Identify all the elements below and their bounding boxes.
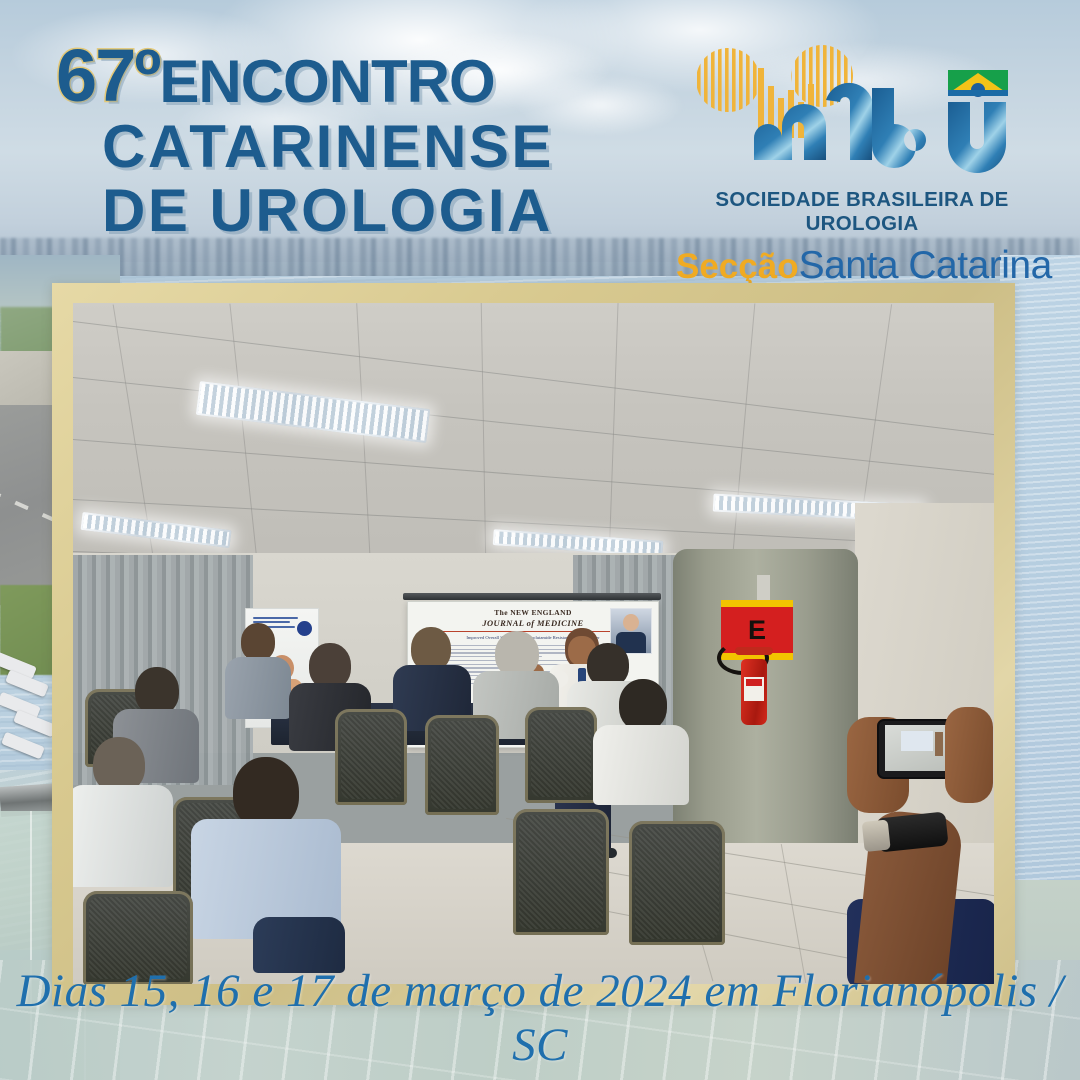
audience-member	[593, 679, 689, 805]
audience-member	[223, 623, 293, 719]
wristwatch	[875, 811, 948, 852]
section-line: SecçãoSanta Catarina	[676, 244, 1048, 288]
sbu-logo-icon	[676, 40, 1048, 186]
banner-logo-badge	[297, 621, 312, 636]
headline-line-2: CATARINENSE	[56, 118, 656, 176]
event-headline: 67º ENCONTRO CATARINENSE DE UROLOGIA	[56, 42, 656, 239]
event-photo: The NEW ENGLAND JOURNAL of MEDICINE Impr…	[73, 303, 994, 984]
audience-torso	[593, 725, 689, 805]
journal-prefix: The NEW ENGLAND	[494, 608, 572, 617]
chair	[335, 709, 407, 805]
projector-screen-housing	[403, 593, 661, 600]
section-label: Secção	[676, 247, 799, 286]
event-poster: 67º ENCONTRO CATARINENSE DE UROLOGIA	[0, 0, 1080, 1080]
event-dateline: Dias 15, 16 e 17 de março de 2024 em Flo…	[0, 964, 1080, 1072]
society-name: SOCIEDADE BRASILEIRA DE UROLOGIA	[676, 188, 1048, 236]
chair	[525, 707, 597, 803]
audience-member	[191, 757, 341, 971]
extinguisher-nozzle	[735, 647, 773, 655]
extinguisher-sign-letter: E	[748, 617, 766, 644]
extinguisher-mount	[757, 575, 770, 601]
audience	[73, 701, 793, 984]
section-name: Santa Catarina	[799, 244, 1052, 287]
chair	[629, 821, 725, 945]
audience-head	[241, 623, 275, 661]
photo-frame: The NEW ENGLAND JOURNAL of MEDICINE Impr…	[52, 283, 1015, 1005]
audience-torso	[73, 785, 173, 887]
right-hand	[945, 707, 993, 803]
sbu-logo-block: SOCIEDADE BRASILEIRA DE UROLOGIA SecçãoS…	[676, 40, 1048, 288]
headline-line-3: DE UROLOGIA	[56, 182, 656, 240]
audience-torso	[225, 657, 291, 719]
headline-word-encontro: ENCONTRO	[159, 53, 494, 110]
attendee-filming-with-phone	[833, 689, 994, 984]
edition-number: 67º	[56, 42, 159, 110]
audience-head	[619, 679, 667, 731]
audience-member	[73, 737, 173, 887]
audience-head	[135, 667, 179, 715]
extinguisher-label	[744, 677, 764, 701]
headline-line-1: 67º ENCONTRO	[56, 42, 656, 110]
chair	[425, 715, 499, 815]
chair	[513, 809, 609, 935]
